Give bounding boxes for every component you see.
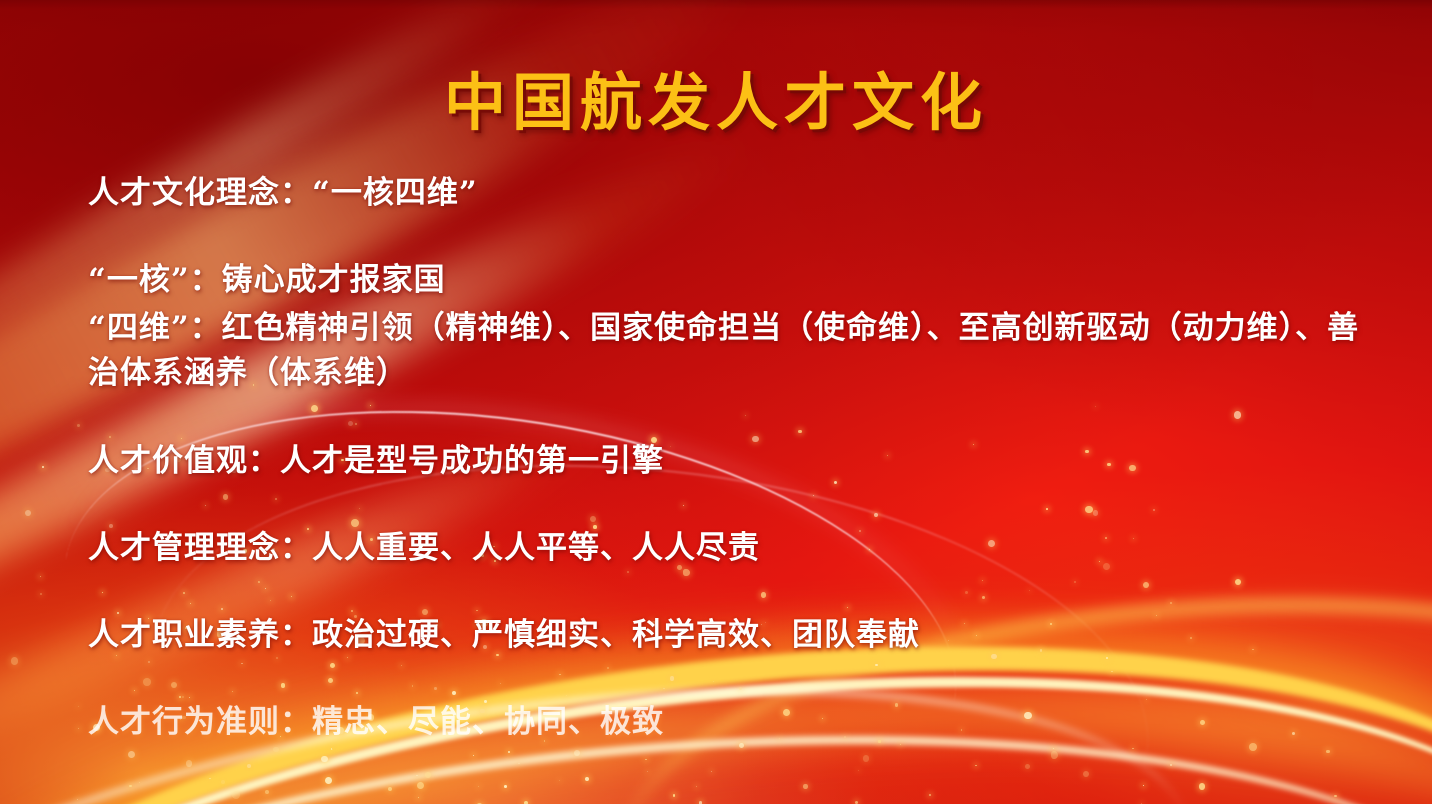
text-line-four-dimensions: “四维”：红色精神引领（精神维）、国家使命担当（使命维）、至高创新驱动（动力维）… <box>88 306 1378 396</box>
text-line-code-of-conduct: 人才行为准则：精忠、尽能、协同、极致 <box>88 707 1378 738</box>
text-line-talent-values: 人才价值观：人才是型号成功的第一引擎 <box>88 446 1378 477</box>
slide-canvas: 中国航发人才文化 人才文化理念：“一核四维” “一核”：铸心成才报家国 “四维”… <box>0 0 1432 804</box>
text-line-professional-quality: 人才职业素养：政治过硬、严慎细实、科学高效、团队奉献 <box>88 620 1378 651</box>
page-title: 中国航发人才文化 <box>0 52 1432 142</box>
text-line-talent-management-concept: 人才管理理念：人人重要、人人平等、人人尽责 <box>88 533 1378 564</box>
text-line-one-core: “一核”：铸心成才报家国 <box>88 265 1378 296</box>
body-text-block: 人才文化理念：“一核四维” “一核”：铸心成才报家国 “四维”：红色精神引领（精… <box>88 178 1378 738</box>
text-line-talent-culture-concept: 人才文化理念：“一核四维” <box>88 178 1378 209</box>
